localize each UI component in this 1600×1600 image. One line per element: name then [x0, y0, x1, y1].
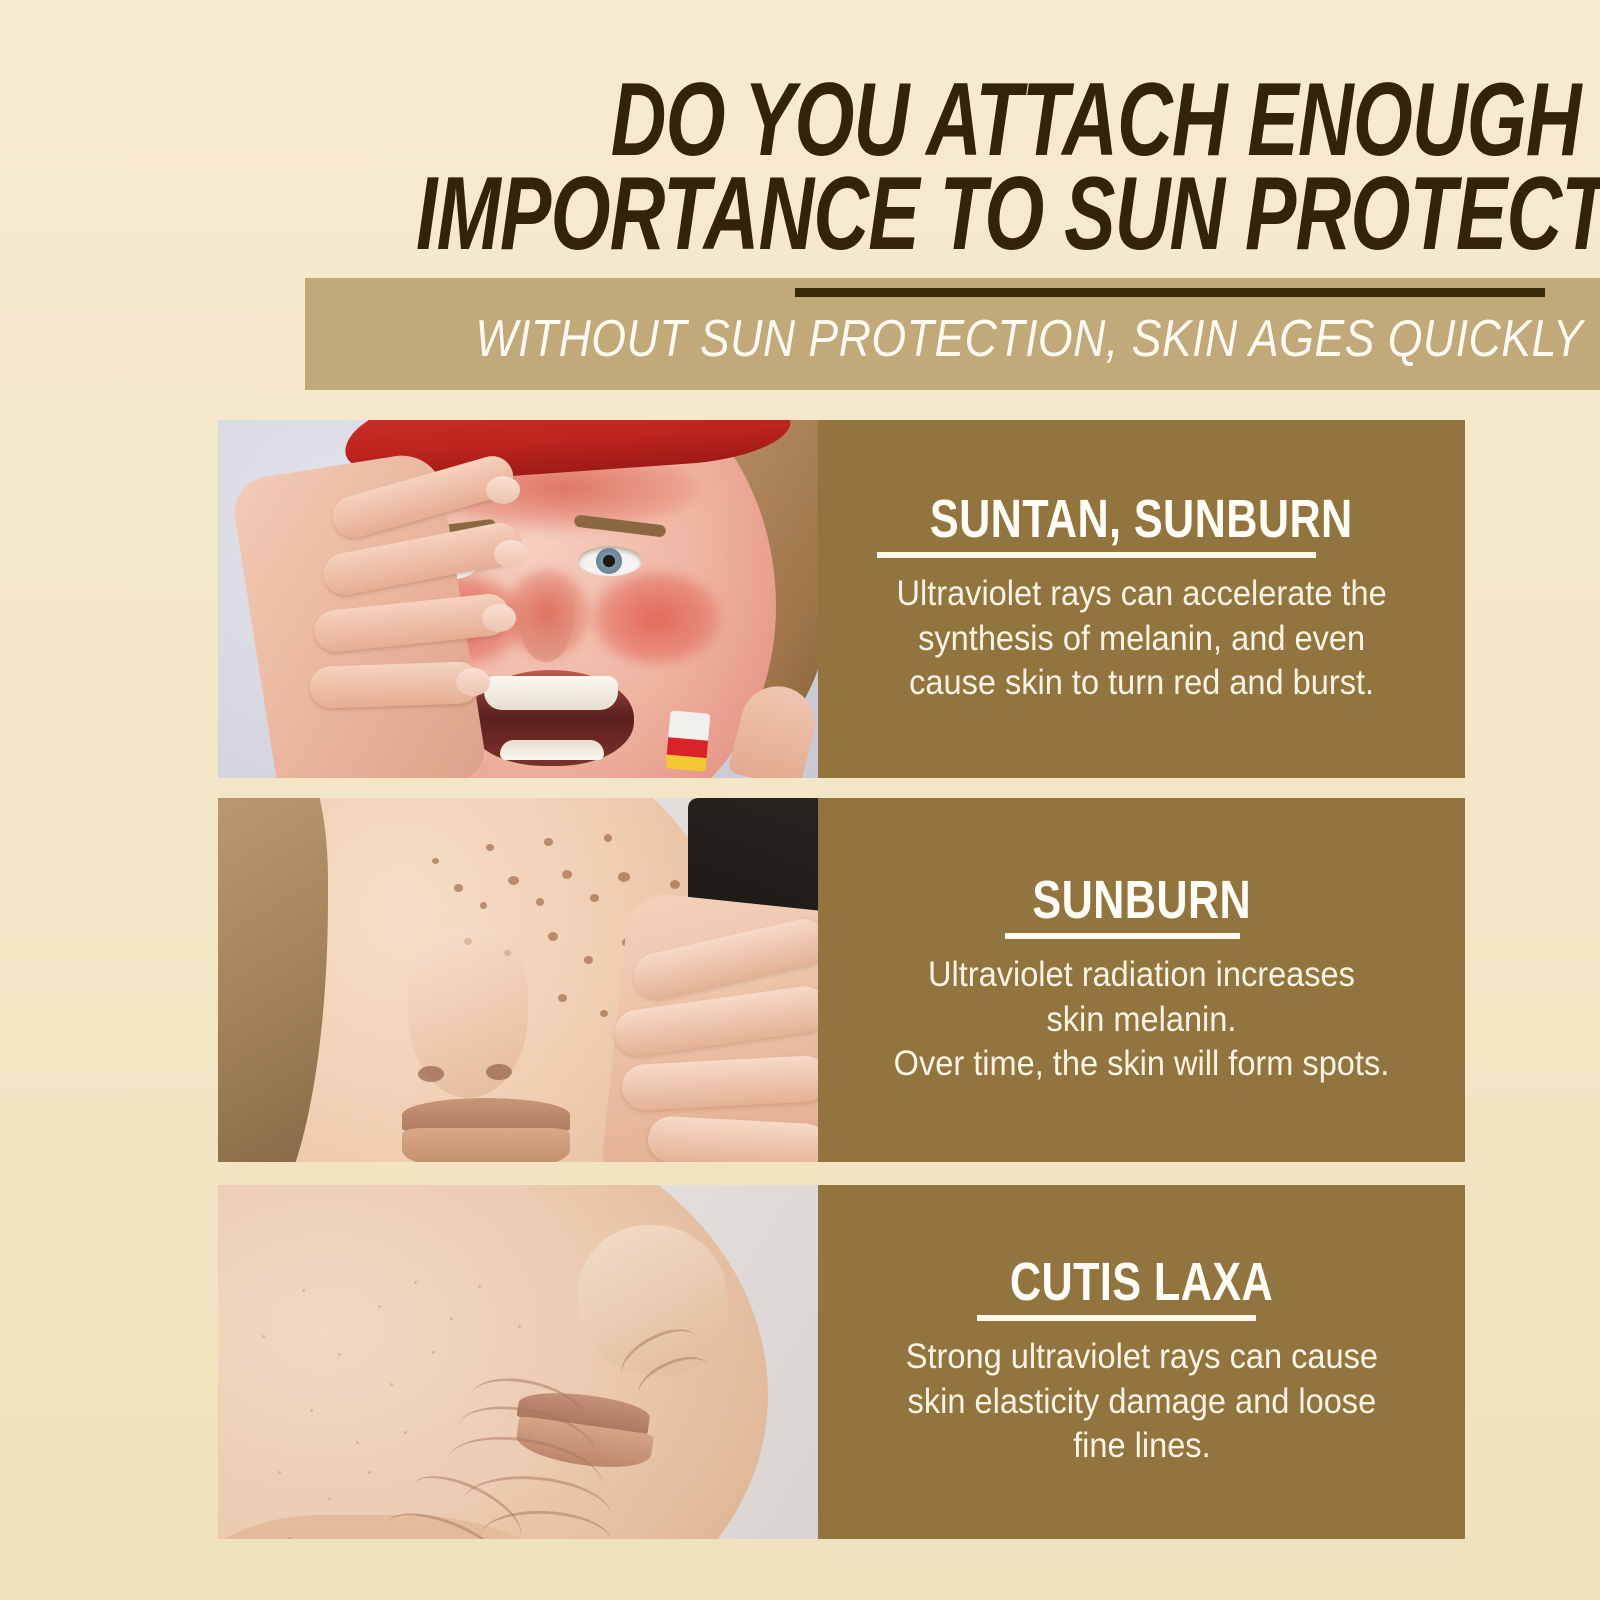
body-line: Ultraviolet rays can accelerate the: [896, 572, 1386, 617]
text-panel-suntan-sunburn: SUNTAN, SUNBURN Ultraviolet rays can acc…: [818, 420, 1465, 778]
section-row-suntan-sunburn: SUNTAN, SUNBURN Ultraviolet rays can acc…: [218, 420, 1465, 778]
page-title-line-1: DO YOU ATTACH ENOUGH: [416, 74, 1581, 168]
body-line: Ultraviolet radiation increases: [894, 953, 1390, 998]
section-row-sunburn: SUNBURN Ultraviolet radiation increases …: [218, 798, 1465, 1162]
illustration-spotted-skin: [218, 798, 818, 1162]
infographic-poster: DO YOU ATTACH ENOUGH IMPORTANCE TO SUN P…: [0, 0, 1600, 1600]
subtitle-text: WITHOUT SUN PROTECTION, SKIN AGES QUICKL…: [486, 300, 1595, 378]
illustration-sunburned-face: [218, 420, 818, 778]
section-title-underline: [877, 552, 1316, 558]
section-title-underline: [977, 1315, 1256, 1321]
text-panel-sunburn: SUNBURN Ultraviolet radiation increases …: [818, 798, 1465, 1162]
subtitle-divider-rule: [795, 288, 1545, 297]
body-line: Over time, the skin will form spots.: [894, 1042, 1390, 1087]
text-panel-cutis-laxa: CUTIS LAXA Strong ultraviolet rays can c…: [818, 1185, 1465, 1539]
section-title-underline: [1005, 933, 1240, 939]
illustration-wrinkled-skin: [218, 1185, 818, 1539]
page-title: DO YOU ATTACH ENOUGH IMPORTANCE TO SUN P…: [416, 74, 1600, 261]
body-line: cause skin to turn red and burst.: [896, 661, 1386, 706]
section-body-sunburn: Ultraviolet radiation increases skin mel…: [894, 953, 1390, 1087]
section-body-cutis-laxa: Strong ultraviolet rays can cause skin e…: [905, 1335, 1377, 1469]
body-line: skin elasticity damage and loose: [905, 1380, 1377, 1425]
section-title-suntan-sunburn: SUNTAN, SUNBURN: [930, 492, 1353, 546]
photo-wrinkled-jaw: [218, 1185, 818, 1539]
body-line: synthesis of melanin, and even: [896, 617, 1386, 662]
section-title-cutis-laxa: CUTIS LAXA: [1010, 1255, 1273, 1309]
page-title-line-2: IMPORTANCE TO SUN PROTECTION?: [416, 168, 1581, 262]
section-row-cutis-laxa: CUTIS LAXA Strong ultraviolet rays can c…: [218, 1185, 1465, 1539]
body-line: Strong ultraviolet rays can cause: [905, 1335, 1377, 1380]
section-title-sunburn: SUNBURN: [1032, 873, 1251, 927]
body-line: fine lines.: [905, 1424, 1377, 1469]
section-body-suntan-sunburn: Ultraviolet rays can accelerate the synt…: [896, 572, 1386, 706]
photo-sunburned-woman: [218, 420, 818, 778]
photo-spotted-cheek: [218, 798, 818, 1162]
body-line: skin melanin.: [894, 998, 1390, 1043]
